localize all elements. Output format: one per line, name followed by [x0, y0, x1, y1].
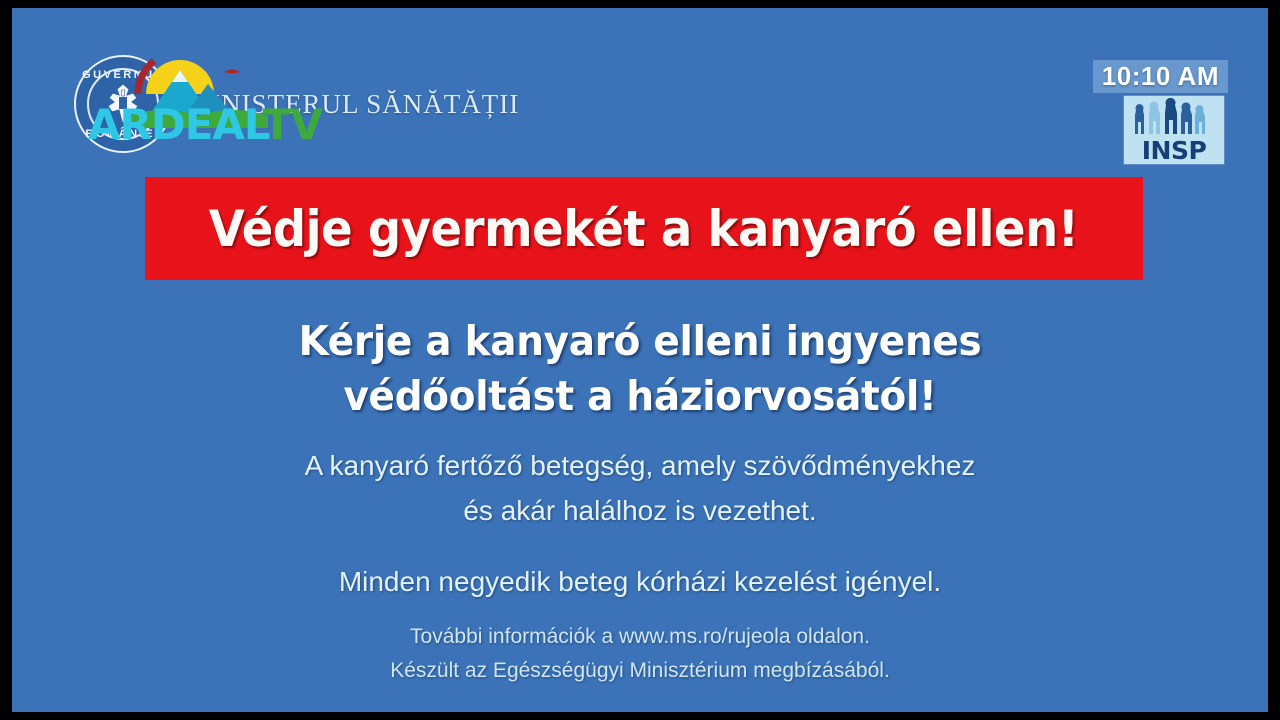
footer-line-1: További információk a www.ms.ro/rujeola …	[12, 620, 1268, 654]
seal-text-bottom: ROMÂNIEI	[74, 128, 172, 140]
tv-broadcast-screen: GUVERNUL ROMÂNIEI MINISTERUL SĂNĂTĂȚII	[0, 0, 1280, 720]
footer-text: További információk a www.ms.ro/rujeola …	[12, 620, 1268, 688]
eagle-crest-icon	[103, 82, 143, 126]
body-paragraph-1-line-2: és akár halálhoz is vezethet.	[12, 489, 1268, 534]
ministry-name-label: MINISTERUL SĂNĂTĂȚII	[186, 89, 519, 120]
headline-banner: Védje gyermekét a kanyaró ellen!	[145, 177, 1143, 280]
clock-overlay: 10:10 AM	[1093, 60, 1228, 93]
seal-text-top: GUVERNUL	[74, 69, 172, 81]
guvernul-romaniei-seal-icon: GUVERNUL ROMÂNIEI	[74, 55, 172, 153]
insp-label: INSP	[1124, 138, 1224, 163]
headline-text: Védje gyermekét a kanyaró ellen!	[209, 200, 1079, 258]
people-silhouettes-icon	[1124, 98, 1224, 138]
subheadline: Kérje a kanyaró elleni ingyenes védőoltá…	[12, 314, 1268, 424]
footer-line-2: Készült az Egészségügyi Minisztérium meg…	[12, 654, 1268, 688]
insp-logo: INSP	[1124, 96, 1224, 164]
body-paragraph-1-line-1: A kanyaró fertőző betegség, amely szövőd…	[12, 444, 1268, 489]
body-paragraph-1: A kanyaró fertőző betegség, amely szövőd…	[12, 444, 1268, 534]
ministry-branding: GUVERNUL ROMÂNIEI MINISTERUL SĂNĂTĂȚII	[74, 48, 519, 160]
body-paragraph-2: Minden negyedik beteg kórházi kezelést i…	[12, 560, 1268, 605]
subheadline-line-2: védőoltást a háziorvosától!	[43, 369, 1236, 424]
subheadline-line-1: Kérje a kanyaró elleni ingyenes	[43, 314, 1236, 369]
body-paragraph-2-line-1: Minden negyedik beteg kórházi kezelést i…	[12, 560, 1268, 605]
video-frame: GUVERNUL ROMÂNIEI MINISTERUL SĂNĂTĂȚII	[12, 8, 1268, 712]
